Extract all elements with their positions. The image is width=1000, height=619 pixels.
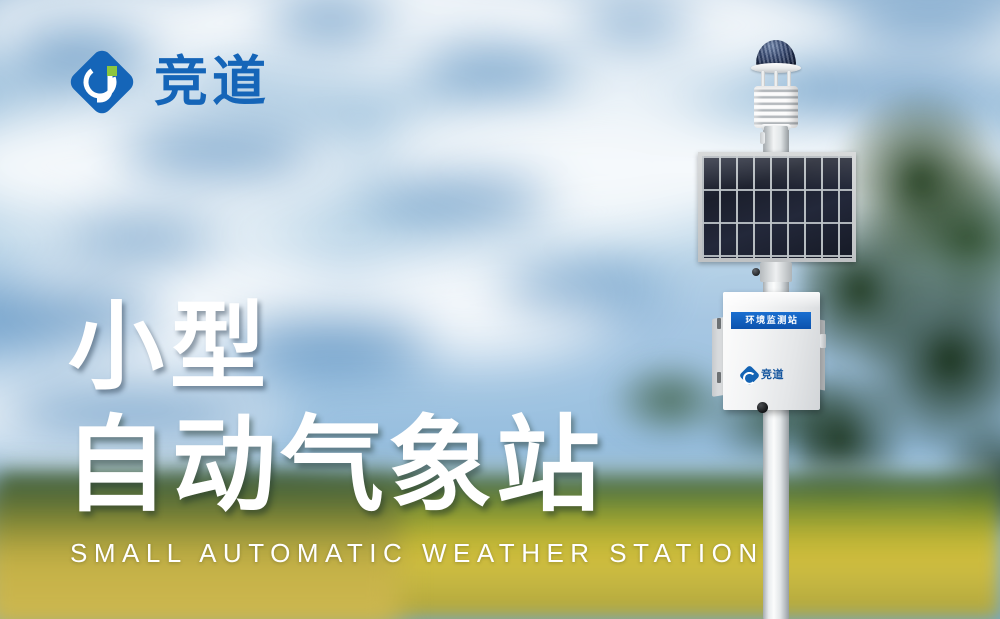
enclosure-top-highlight	[723, 292, 820, 308]
jingdao-diamond-logo-icon	[739, 365, 760, 386]
vent-hole-icon	[757, 402, 768, 413]
enclosure-hinge-icon	[717, 372, 721, 383]
headline-line-1: 小型	[68, 300, 272, 396]
ultrasonic-weather-sensor-icon	[744, 40, 808, 158]
sensor-post-icon	[774, 71, 778, 87]
product-banner: 环境监测站 竞道 竞道 小型 自动气象站 SMALL AUTOMATIC WEA…	[0, 0, 1000, 619]
headline-line-2: 自动气象站	[64, 414, 604, 518]
sensor-cable-tab-icon	[760, 132, 765, 144]
enclosure-banner: 环境监测站	[731, 312, 811, 329]
sensor-post-icon	[787, 71, 791, 87]
brand-header[interactable]: 竞道	[66, 46, 270, 118]
enclosure-brand-logo: 竞道	[742, 368, 784, 383]
enclosure-box	[723, 292, 820, 410]
radiation-shield-icon	[754, 86, 798, 128]
enclosure-latch-icon	[820, 334, 826, 348]
panel-bracket-icon	[760, 262, 792, 282]
subtitle-english: SMALL AUTOMATIC WEATHER STATION	[70, 540, 764, 566]
solar-cells	[702, 156, 852, 258]
enclosure-brand-name: 竞道	[761, 370, 784, 381]
solar-panel-icon	[698, 152, 856, 262]
brand-name: 竞道	[154, 55, 270, 109]
enclosure-hinge-icon	[717, 318, 721, 329]
panel-bolt-icon	[752, 268, 760, 276]
enclosure-banner-label: 环境监测站	[745, 316, 798, 325]
sensor-post-icon	[761, 71, 765, 87]
jingdao-diamond-logo-icon[interactable]	[66, 46, 138, 118]
